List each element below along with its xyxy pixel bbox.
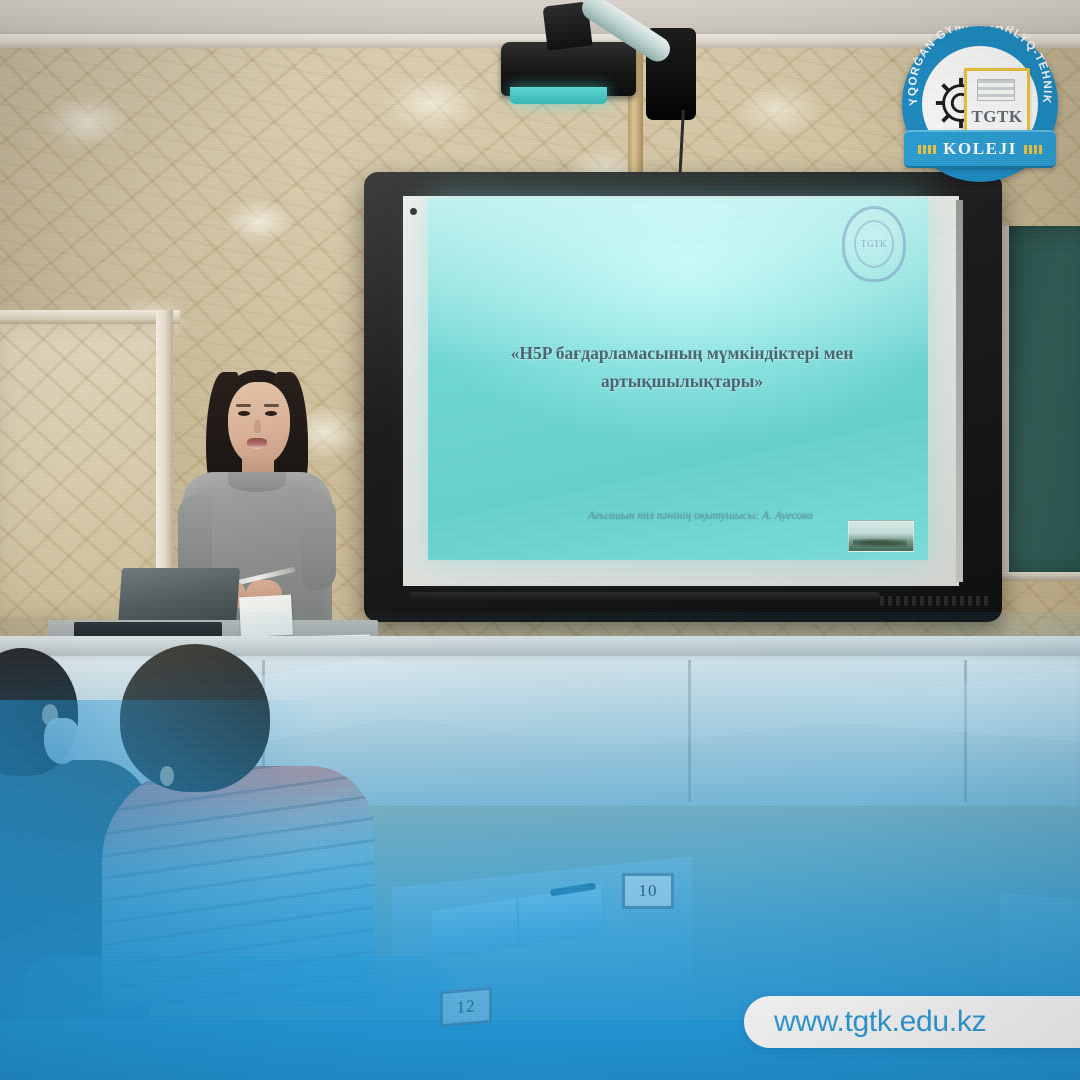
whiteboard-pen-tray — [410, 592, 880, 600]
door-frame-top — [0, 310, 180, 324]
book-page-lines — [977, 79, 1015, 101]
logo-ribbon: KOLEJI — [904, 130, 1056, 168]
whiteboard-side-strip — [956, 200, 963, 582]
audience-member-2-ear — [160, 766, 174, 786]
slide-corner-thumbnail — [848, 520, 914, 552]
desk-number-plate-10: 10 — [622, 873, 674, 909]
green-chalkboard — [1002, 226, 1080, 574]
ribbon-ornament-right — [1024, 145, 1042, 154]
slide-college-emblem-icon: TGTK — [842, 206, 906, 282]
tgtk-college-logo: TALDYQORǴAN GÝMANITARLYQ-TEHNIKALYQ — [898, 22, 1062, 186]
website-url-pill[interactable]: www.tgtk.edu.kz — [744, 996, 1080, 1048]
whiteboard-brand-label — [880, 596, 990, 606]
projector-lens — [510, 87, 607, 104]
ribbon-ornament-left — [918, 145, 936, 154]
presenter-mouth — [247, 438, 267, 449]
presenter-eyebrow-right — [264, 404, 279, 407]
presenter-eye-left — [238, 411, 250, 416]
presenter-nose — [254, 420, 261, 433]
chalkboard-rail — [1002, 572, 1080, 581]
slide-emblem-caption: TGTK — [845, 239, 903, 249]
laptop-screen — [118, 568, 240, 624]
audience-member-2-head — [120, 644, 270, 792]
logo-ribbon-label: KOLEJI — [943, 139, 1017, 159]
presenter-eyebrow-left — [236, 404, 251, 407]
logo-monogram: TGTK — [967, 107, 1027, 127]
presenter-sleeve-right — [302, 494, 336, 590]
presenter-collar — [228, 472, 286, 492]
desk-number-plate-12: 12 — [440, 987, 492, 1028]
whiteboard-sensor-dot — [410, 208, 417, 215]
presenter-eye-right — [265, 411, 277, 416]
website-url-text: www.tgtk.edu.kz — [774, 1005, 986, 1039]
desk-paper-card — [239, 595, 293, 638]
slide-title-text: «H5P бағдарламасының мүмкіндіктері мен а… — [470, 340, 894, 395]
projected-slide: TGTK «H5P бағдарламасының мүмкіндіктері … — [428, 198, 928, 560]
classroom-presentation-photo: TGTK «H5P бағдарламасының мүмкіндіктері … — [0, 0, 1080, 1080]
face-mask-icon — [44, 718, 80, 764]
